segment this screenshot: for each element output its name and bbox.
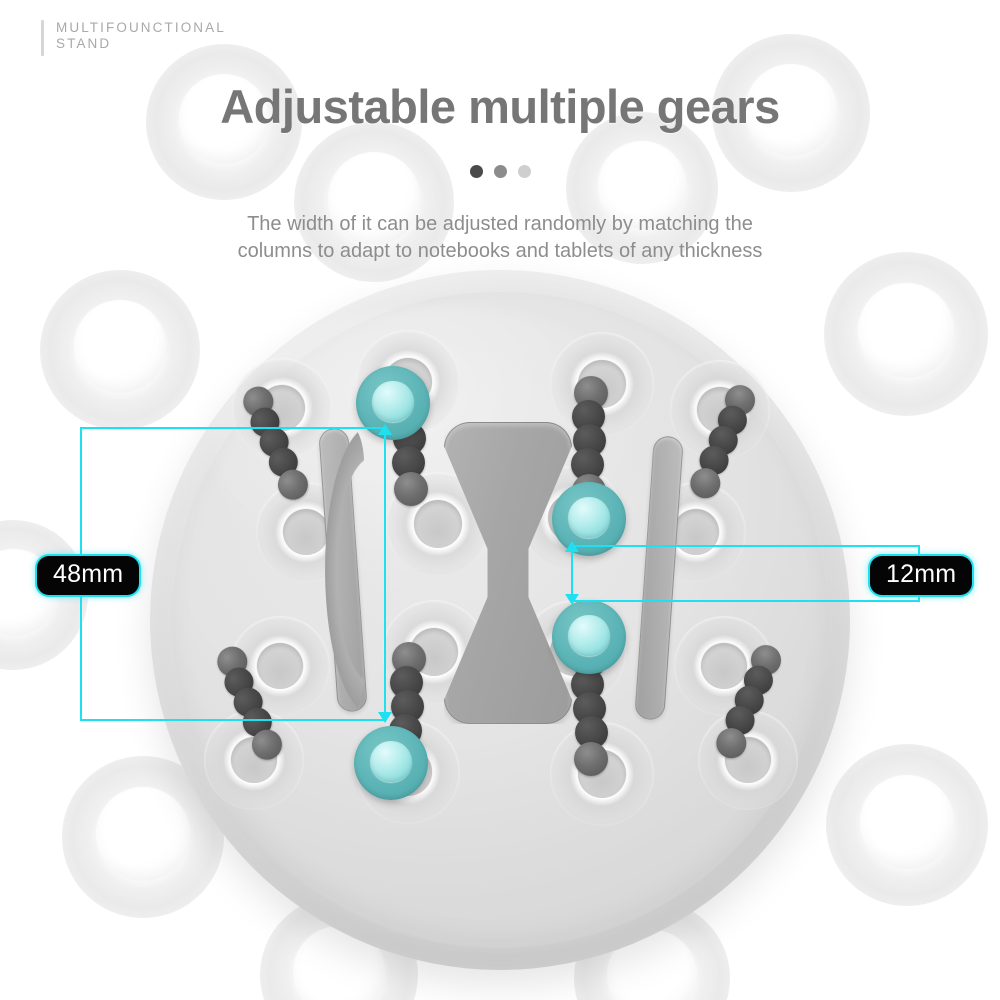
dot-active[interactable] <box>470 165 483 178</box>
product-disc <box>150 270 850 970</box>
bead <box>394 472 428 506</box>
teal-knob-right-bottom[interactable] <box>552 600 626 674</box>
dot-third[interactable] <box>518 165 531 178</box>
measure-48-left-edge-lower <box>80 590 82 721</box>
teal-knob-right-top[interactable] <box>552 482 626 556</box>
carousel-dots[interactable] <box>0 165 1000 178</box>
subtitle-line-2: columns to adapt to notebooks and tablet… <box>0 238 1000 265</box>
measure-12-right-edge-upper <box>918 545 920 561</box>
background-knob-icon <box>826 744 988 906</box>
teal-knob-left-top[interactable] <box>356 366 430 440</box>
page-title: Adjustable multiple gears <box>0 79 1000 134</box>
measure-48-left-edge-upper <box>80 427 82 558</box>
brand-accent-bar <box>41 20 44 56</box>
bead <box>574 742 608 776</box>
infographic-canvas: MULTIFOUNCTIONAL STAND Adjustable multip… <box>0 0 1000 1000</box>
arc-rail-left-curve <box>322 420 364 720</box>
brand-mark: MULTIFOUNCTIONAL STAND <box>41 20 226 56</box>
teal-knob-left-bottom[interactable] <box>354 726 428 800</box>
dot-second[interactable] <box>494 165 507 178</box>
page-subtitle: The width of it can be adjusted randomly… <box>0 211 1000 265</box>
background-knob-icon <box>0 520 88 670</box>
measure-label-48mm: 48mm <box>35 554 141 597</box>
subtitle-line-1: The width of it can be adjusted randomly… <box>0 211 1000 238</box>
measure-label-12mm: 12mm <box>868 554 974 597</box>
measure-12-right-edge-lower <box>918 586 920 602</box>
brand-label: MULTIFOUNCTIONAL STAND <box>56 20 226 52</box>
